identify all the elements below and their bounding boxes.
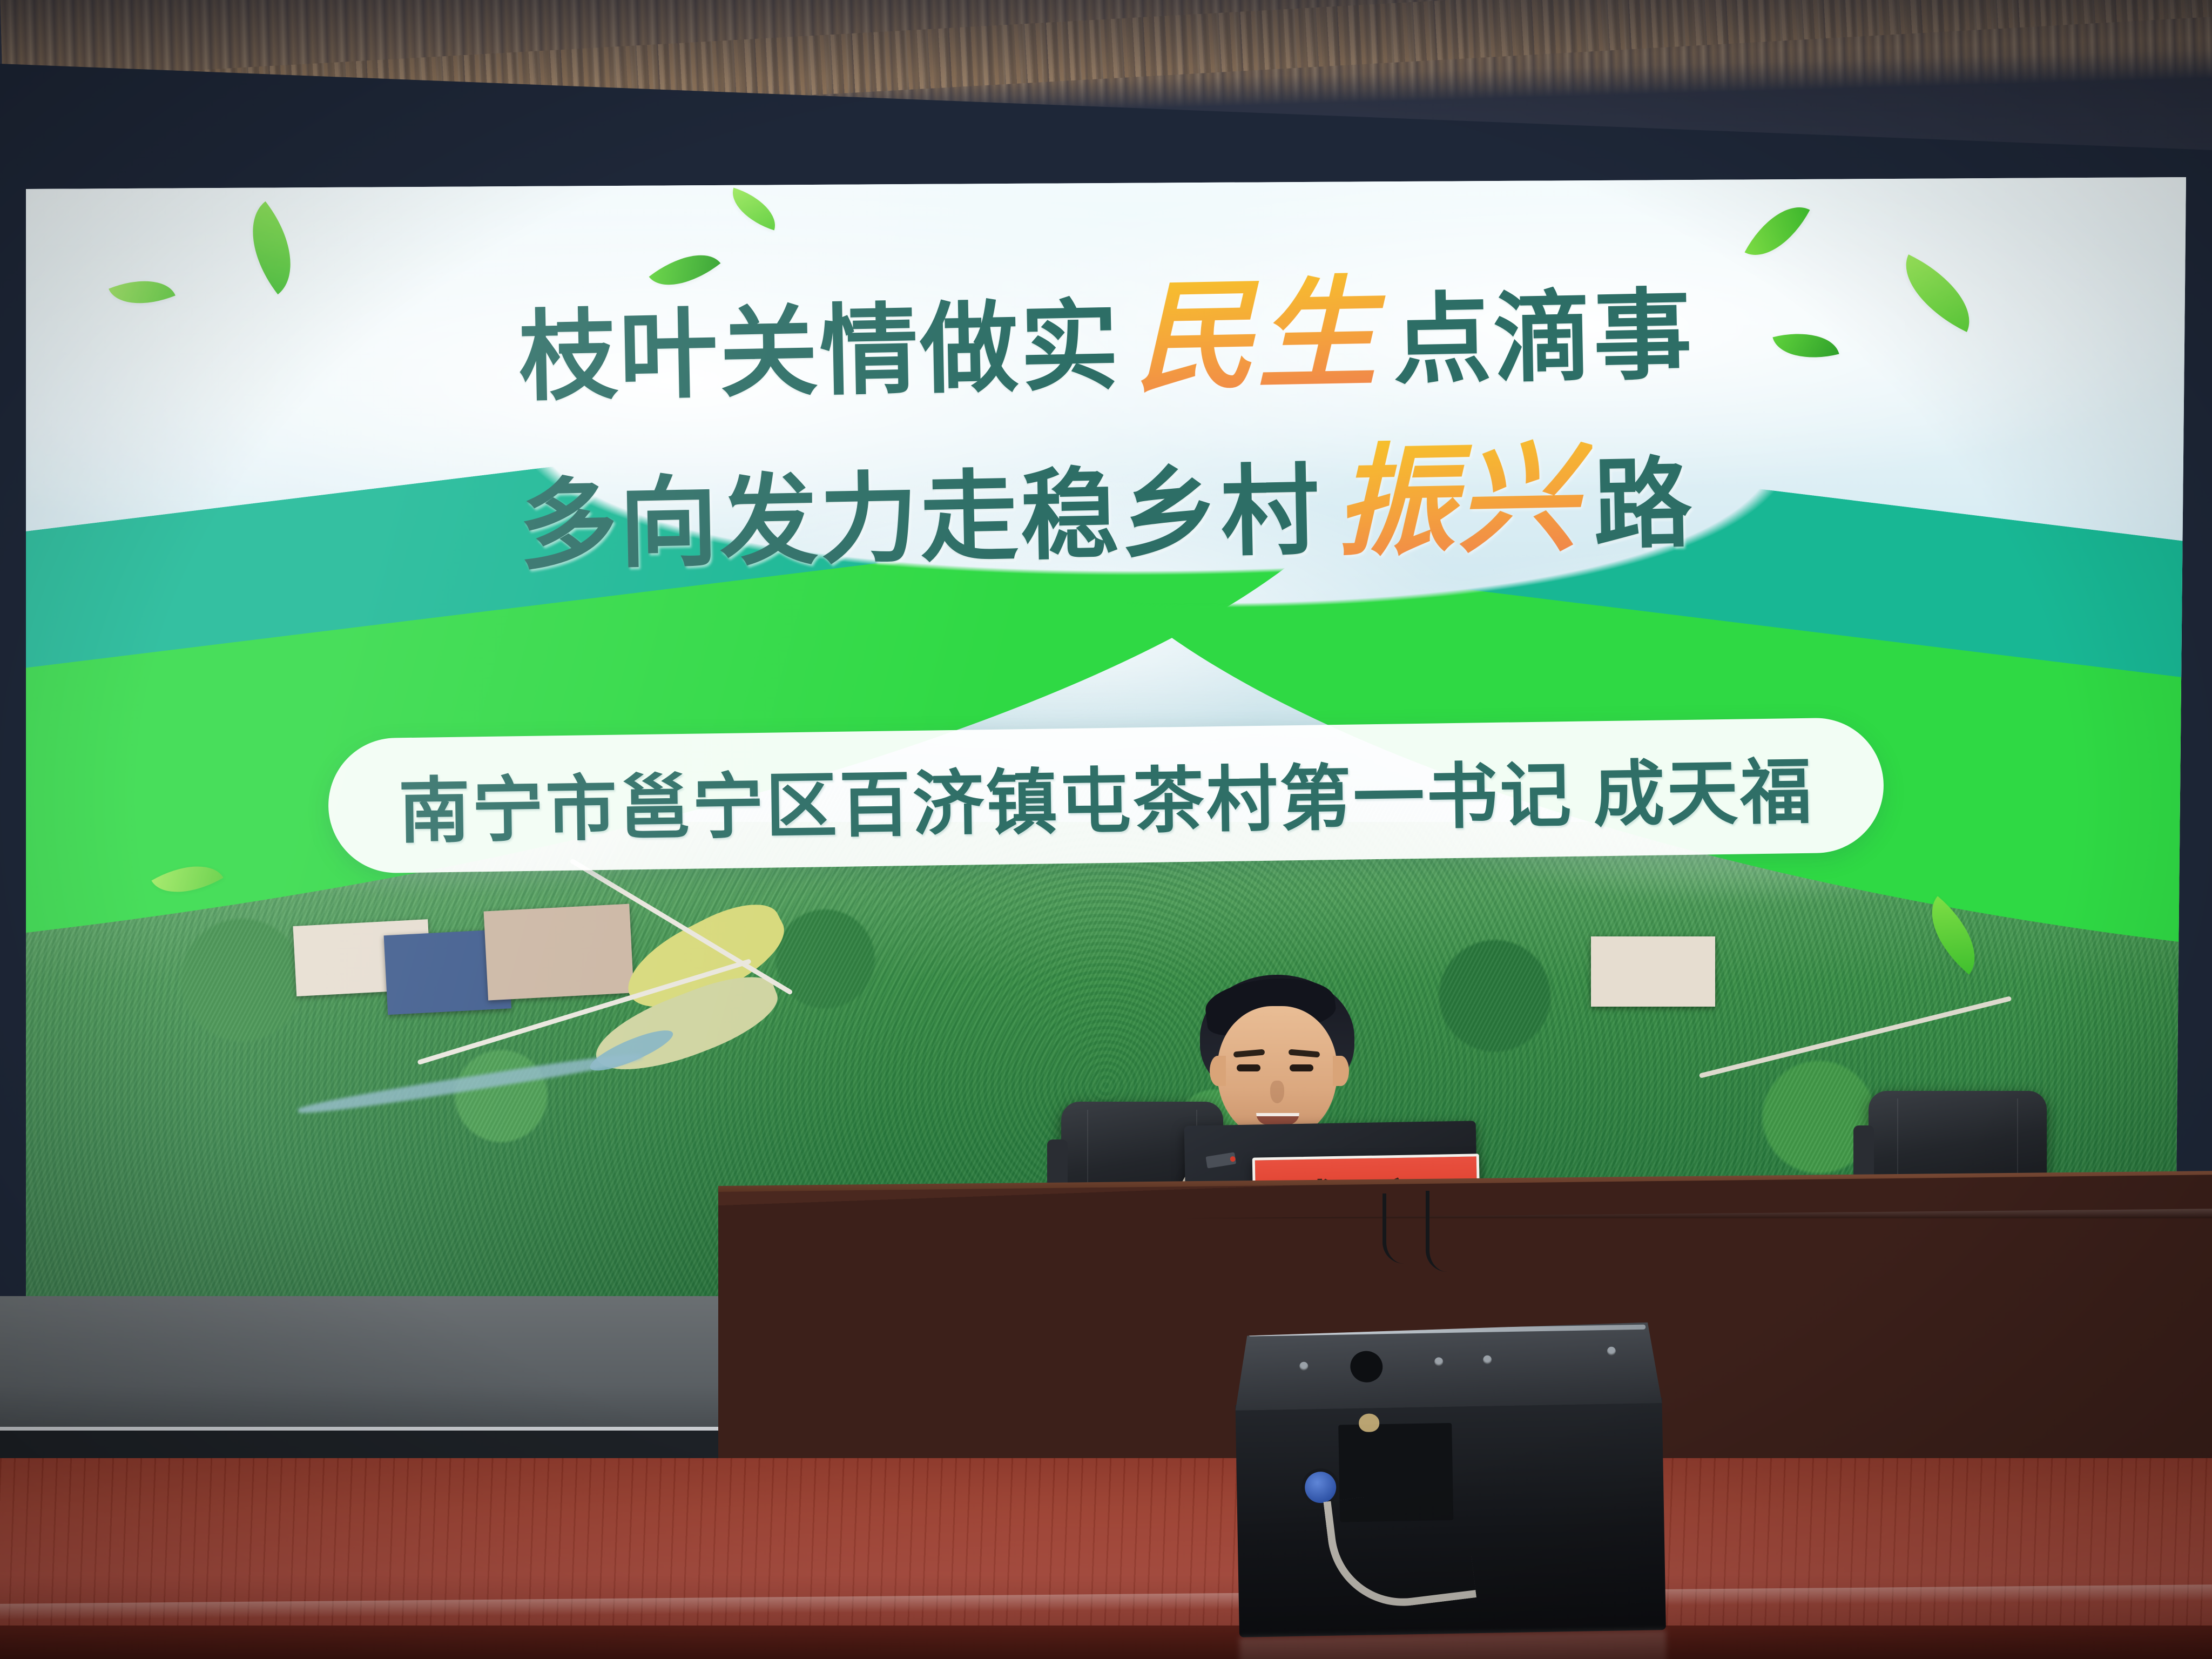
monitor-floor-reflection [1239, 1630, 1667, 1659]
eye-left [1237, 1064, 1260, 1071]
monitor-handle-hole [1347, 1348, 1386, 1386]
cable [1382, 1193, 1426, 1264]
conference-stage-scene: 枝叶关情做实民生点滴事 多向发力走稳乡村振兴路 南宁市邕宁区百济镇屯茶村第一书记… [0, 0, 2212, 1659]
monitor-top-face [1234, 1322, 1662, 1411]
ear-left [1210, 1056, 1226, 1086]
title-line-2-after: 路 [1593, 450, 1695, 561]
monitor-cable [1323, 1485, 1476, 1615]
subtitle-text: 南宁市邕宁区百济镇屯茶村第一书记 成天福 [398, 734, 1815, 857]
stage-front-edge [0, 1626, 2212, 1659]
subtitle-pill: 南宁市邕宁区百济镇屯茶村第一书记 成天福 [327, 717, 1884, 874]
chair-seam [1897, 1098, 1898, 1176]
monitor-screw [1607, 1347, 1616, 1355]
chair-seam [1087, 1110, 1088, 1193]
title-line-1-before: 枝叶关情做实 [518, 293, 1121, 413]
title-line-2-highlight: 振兴 [1319, 433, 1594, 571]
stage-monitor-speaker [1234, 1322, 1666, 1637]
ear-right [1333, 1056, 1349, 1086]
chair-seam [2017, 1098, 2018, 1176]
title-line-1-highlight: 民生 [1119, 268, 1394, 407]
monitor-brand-badge [1359, 1413, 1380, 1432]
eye-right [1290, 1064, 1313, 1071]
monitor-screw [1483, 1355, 1492, 1364]
monitor-body [1236, 1398, 1666, 1637]
monitor-screw [1434, 1357, 1443, 1366]
cable [1426, 1191, 1469, 1272]
mouth-smiling [1256, 1113, 1299, 1125]
title-line-1-after: 点滴事 [1392, 282, 1695, 396]
title-line-2-before: 多向发力走稳乡村 [518, 457, 1322, 581]
monitor-screw [1299, 1362, 1308, 1371]
monitor-speakon-connector [1305, 1472, 1337, 1503]
nose [1270, 1081, 1284, 1103]
